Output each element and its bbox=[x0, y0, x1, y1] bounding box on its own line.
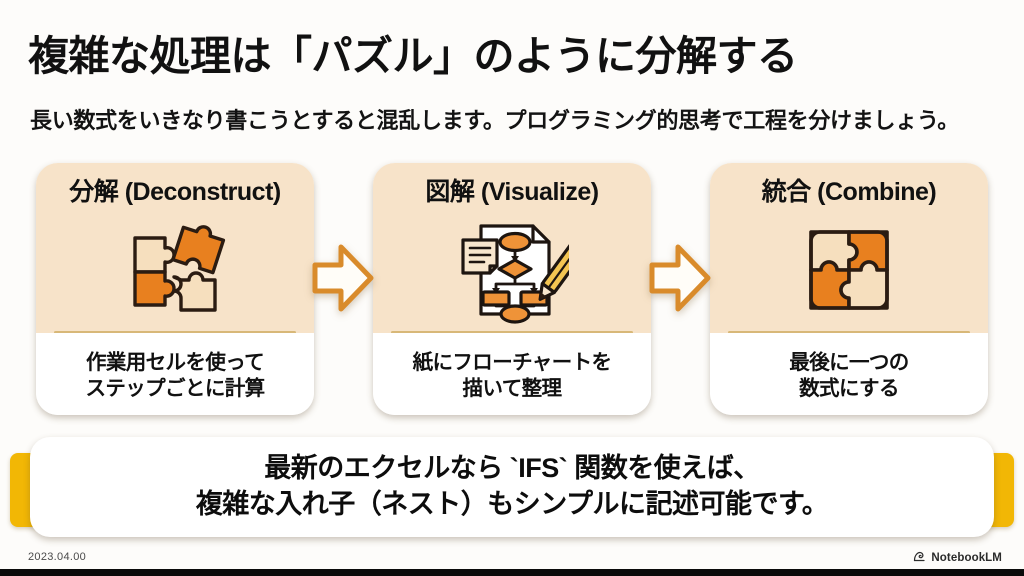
card-description-line-2: ステップごとに計算 bbox=[85, 376, 264, 402]
card-description-line-1: 最後に一つの bbox=[789, 350, 908, 376]
card-description-line-1: 作業用セルを使って bbox=[86, 350, 264, 376]
summary-callout: 最新のエクセルなら `IFS` 関数を使えば、 複雑な入れ子（ネスト）もシンプル… bbox=[30, 437, 994, 537]
footer-date: 2023.04.00 bbox=[28, 551, 86, 563]
slide-root: 複雑な処理は「パズル」のように分解する 長い数式をいきなり書こうとすると混乱しま… bbox=[0, 0, 1024, 576]
footer-brand: NotebookLM bbox=[913, 550, 1002, 566]
arrow-step2-to-step3 bbox=[649, 243, 711, 313]
footer-brand-label: NotebookLM bbox=[931, 552, 1002, 564]
callout-line-1: 最新のエクセルなら `IFS` 関数を使えば、 bbox=[264, 451, 760, 487]
letterbox-bottom bbox=[0, 569, 1024, 576]
summary-callout-container: 最新のエクセルなら `IFS` 関数を使えば、 複雑な入れ子（ネスト）もシンプル… bbox=[0, 437, 1024, 545]
card-description-line-2: 描いて整理 bbox=[463, 376, 562, 402]
card-description-line-2: 数式にする bbox=[799, 376, 899, 402]
card-title: 分解 (Deconstruct) bbox=[36, 172, 314, 208]
flowchart-document-pencil-icon bbox=[373, 211, 651, 329]
card-description-line-1: 紙にフローチャートを bbox=[413, 350, 612, 376]
arrow-step1-to-step2 bbox=[312, 243, 374, 313]
card-top-section: 分解 (Deconstruct) bbox=[36, 163, 314, 333]
step-card-deconstruct[interactable]: 分解 (Deconstruct) bbox=[36, 163, 314, 415]
page-subtitle: 長い数式をいきなり書こうとすると混乱します。プログラミング的思考で工程を分けまし… bbox=[30, 103, 959, 135]
step-card-visualize[interactable]: 図解 (Visualize) bbox=[373, 163, 651, 415]
scattered-puzzle-pieces-icon bbox=[36, 211, 314, 329]
card-bottom-section: 最後に一つの 数式にする bbox=[710, 333, 988, 415]
card-title: 統合 (Combine) bbox=[710, 172, 988, 208]
step-card-combine[interactable]: 統合 (Combine) bbox=[710, 163, 988, 415]
notebooklm-spiral-icon bbox=[913, 550, 926, 566]
card-bottom-section: 紙にフローチャートを 描いて整理 bbox=[373, 333, 651, 415]
card-title: 図解 (Visualize) bbox=[373, 172, 651, 208]
page-title: 複雑な処理は「パズル」のように分解する bbox=[28, 22, 798, 82]
step-cards-container: 分解 (Deconstruct) bbox=[0, 163, 1024, 418]
callout-line-2: 複雑な入れ子（ネスト）もシンプルに記述可能です。 bbox=[196, 487, 829, 523]
assembled-puzzle-icon bbox=[710, 211, 988, 329]
card-top-section: 図解 (Visualize) bbox=[373, 163, 651, 333]
card-top-section: 統合 (Combine) bbox=[710, 163, 988, 333]
card-bottom-section: 作業用セルを使って ステップごとに計算 bbox=[36, 333, 314, 415]
